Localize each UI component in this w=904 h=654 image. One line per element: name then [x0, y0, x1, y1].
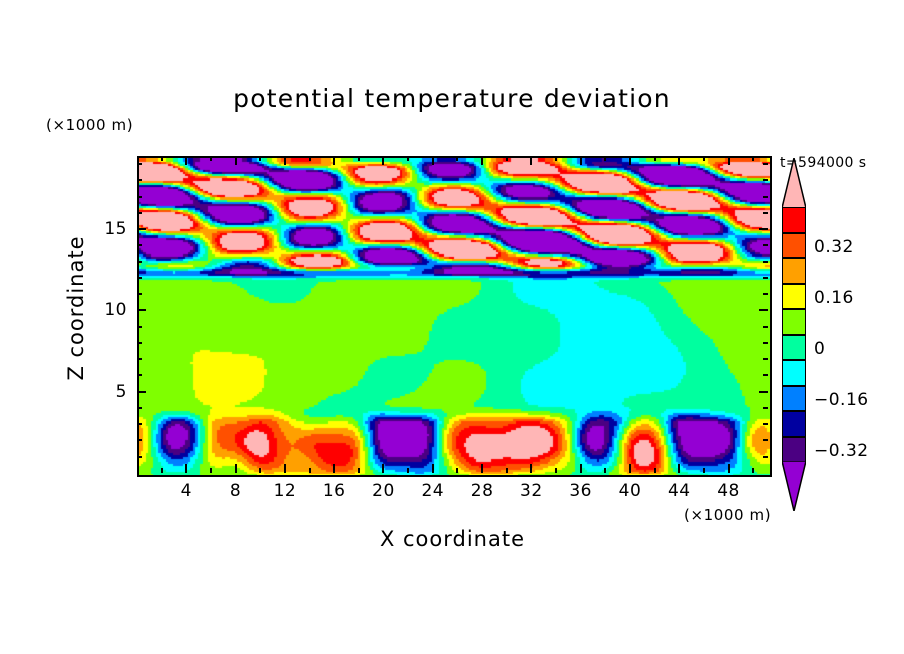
y-tick-minor-right: [763, 342, 768, 344]
colorbar-cap-bottom: [782, 461, 806, 511]
y-tick-minor-right: [763, 277, 768, 279]
y-tick-minor: [137, 196, 142, 198]
y-tick-major: [137, 228, 146, 230]
y-tick-minor: [137, 439, 142, 441]
page-title: potential temperature deviation: [0, 84, 904, 113]
x-tick-minor: [654, 468, 656, 473]
x-tick-minor: [161, 468, 163, 473]
colorbar-band: [782, 411, 806, 437]
x-tick-major: [728, 464, 730, 473]
colorbar-band: [782, 360, 806, 386]
x-tick-major-top: [284, 156, 286, 165]
colorbar-band: [782, 207, 806, 233]
y-tick-minor-right: [763, 407, 768, 409]
x-tick-minor: [604, 468, 606, 473]
y-tick-minor-right: [763, 196, 768, 198]
x-tick-minor-top: [654, 156, 656, 161]
y-tick-minor-right: [763, 326, 768, 328]
x-tick-minor-top: [604, 156, 606, 161]
x-tick-minor-top: [456, 156, 458, 161]
y-axis-label: Z coordinate: [64, 208, 88, 408]
x-tick-major: [678, 464, 680, 473]
y-tick-minor-right: [763, 439, 768, 441]
x-tick-major: [333, 464, 335, 473]
x-axis-unit-label: (×1000 m): [684, 506, 771, 524]
y-tick-minor: [137, 293, 142, 295]
x-tick-minor: [358, 468, 360, 473]
x-tick-major: [185, 464, 187, 473]
contour-plot-area: [137, 156, 772, 477]
y-tick-minor: [137, 407, 142, 409]
x-tick-minor: [309, 468, 311, 473]
colorbar-band: [782, 386, 806, 412]
y-tick-minor: [137, 374, 142, 376]
x-tick-minor-top: [210, 156, 212, 161]
y-tick-major-right: [759, 309, 768, 311]
x-tick-major: [580, 464, 582, 473]
x-tick-minor-top: [259, 156, 261, 161]
y-tick-minor-right: [763, 293, 768, 295]
x-tick-major-top: [530, 156, 532, 165]
x-tick-minor-top: [407, 156, 409, 161]
colorbar-band: [782, 437, 806, 463]
y-tick-minor: [137, 212, 142, 214]
colorbar-tick-label: −0.16: [814, 390, 869, 410]
x-tick-minor-top: [703, 156, 705, 161]
colorbar-tick-label: 0: [814, 339, 825, 359]
x-tick-major: [629, 464, 631, 473]
contour-canvas: [139, 158, 770, 475]
y-tick-minor: [137, 261, 142, 263]
y-tick-minor: [137, 244, 142, 246]
y-tick-major: [137, 391, 146, 393]
figure-root: potential temperature deviation (×1000 m…: [0, 0, 904, 654]
x-tick-minor: [703, 468, 705, 473]
x-tick-major: [481, 464, 483, 473]
y-tick-minor: [137, 423, 142, 425]
x-tick-minor-top: [309, 156, 311, 161]
x-tick-label: 48: [699, 481, 759, 501]
x-tick-major-top: [432, 156, 434, 165]
x-tick-minor-top: [161, 156, 163, 161]
x-tick-minor: [456, 468, 458, 473]
x-tick-major: [530, 464, 532, 473]
x-tick-major-top: [580, 156, 582, 165]
x-axis-label: X coordinate: [137, 527, 768, 551]
colorbar-tick-label: −0.32: [814, 441, 869, 461]
y-tick-major: [137, 309, 146, 311]
x-tick-major-top: [333, 156, 335, 165]
colorbar-band: [782, 335, 806, 361]
x-tick-major: [432, 464, 434, 473]
y-tick-minor: [137, 342, 142, 344]
x-tick-minor-top: [358, 156, 360, 161]
colorbar-tick-label: 0.32: [814, 237, 854, 257]
colorbar-tick-label: 0.16: [814, 288, 854, 308]
colorbar-cap-top: [782, 158, 806, 208]
y-tick-minor: [137, 358, 142, 360]
y-tick-minor-right: [763, 179, 768, 181]
x-tick-minor: [210, 468, 212, 473]
x-tick-minor: [259, 468, 261, 473]
x-tick-major: [235, 464, 237, 473]
x-tick-major-top: [728, 156, 730, 165]
x-tick-major-top: [481, 156, 483, 165]
x-tick-major: [382, 464, 384, 473]
x-tick-major-top: [678, 156, 680, 165]
colorbar-band: [782, 258, 806, 284]
x-tick-minor: [555, 468, 557, 473]
x-tick-major-top: [382, 156, 384, 165]
y-tick-major-right: [759, 391, 768, 393]
x-tick-minor-top: [752, 156, 754, 161]
y-tick-minor-right: [763, 244, 768, 246]
colorbar-band: [782, 233, 806, 259]
x-tick-major-top: [235, 156, 237, 165]
x-tick-minor: [506, 468, 508, 473]
y-tick-minor: [137, 163, 142, 165]
y-tick-minor-right: [763, 261, 768, 263]
y-tick-minor-right: [763, 374, 768, 376]
y-tick-major-right: [759, 228, 768, 230]
x-tick-minor-top: [506, 156, 508, 161]
x-tick-minor: [407, 468, 409, 473]
x-tick-major-top: [629, 156, 631, 165]
y-tick-minor: [137, 179, 142, 181]
x-tick-major: [284, 464, 286, 473]
y-tick-minor: [137, 277, 142, 279]
y-axis-unit-label: (×1000 m): [46, 116, 133, 134]
y-tick-minor-right: [763, 456, 768, 458]
colorbar-band: [782, 284, 806, 310]
y-tick-minor-right: [763, 358, 768, 360]
colorbar: [782, 207, 806, 462]
y-tick-minor-right: [763, 212, 768, 214]
y-tick-minor: [137, 456, 142, 458]
x-tick-minor: [752, 468, 754, 473]
x-tick-major-top: [185, 156, 187, 165]
colorbar-band: [782, 309, 806, 335]
x-tick-minor-top: [555, 156, 557, 161]
y-tick-minor: [137, 326, 142, 328]
y-tick-minor-right: [763, 423, 768, 425]
y-tick-minor-right: [763, 163, 768, 165]
